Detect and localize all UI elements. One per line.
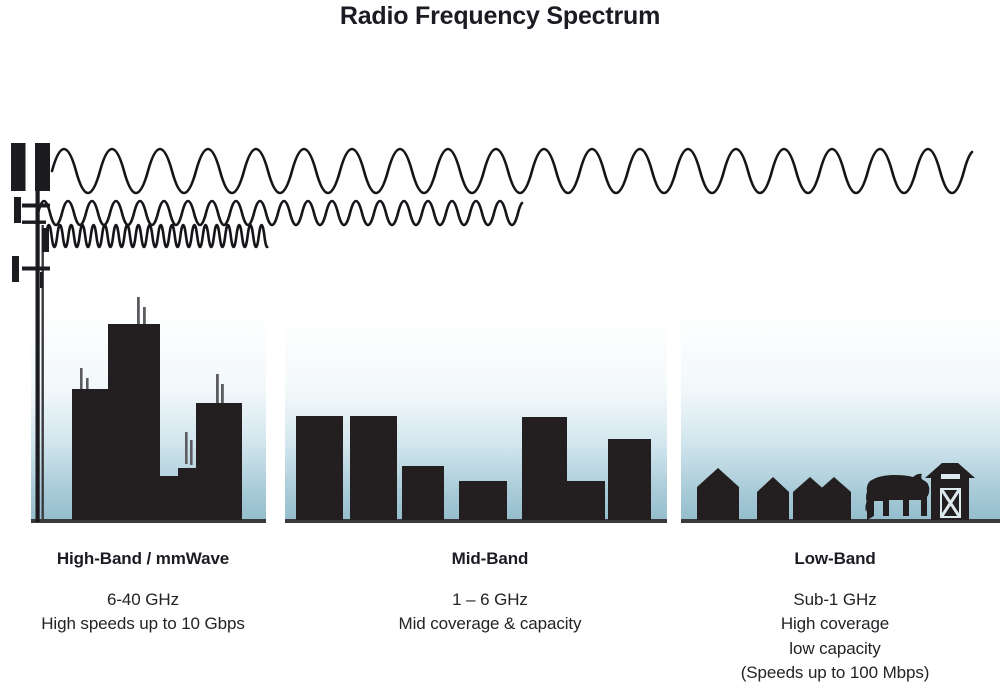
rooftop-antenna xyxy=(216,374,219,404)
building xyxy=(459,481,507,520)
antenna-box-middle xyxy=(42,228,49,252)
high-frequency-wave xyxy=(46,225,267,247)
tower-mast-foot xyxy=(40,272,43,288)
building xyxy=(567,481,605,520)
tower-crossarm-upper xyxy=(22,204,50,208)
band-line: (Speeds up to 100 Mbps) xyxy=(690,662,980,685)
radio-waves xyxy=(38,149,972,247)
building xyxy=(608,439,651,520)
antenna-panel-left xyxy=(11,143,26,191)
band-line: 6-40 GHz xyxy=(0,589,286,612)
band-caption-high: High-Band / mmWave 6-40 GHz High speeds … xyxy=(0,548,286,638)
tower-crossarm-lower xyxy=(22,267,50,271)
skyscraper xyxy=(108,324,160,520)
band-title-low: Low-Band xyxy=(690,548,980,571)
band-caption-mid: Mid-Band 1 – 6 GHz Mid coverage & capaci… xyxy=(340,548,640,638)
building xyxy=(402,466,444,520)
mid-frequency-wave xyxy=(38,201,522,225)
page-title: Radio Frequency Spectrum xyxy=(0,2,1000,31)
building xyxy=(296,416,343,520)
band-lines-high: 6-40 GHz High speeds up to 10 Gbps xyxy=(0,589,286,636)
band-title-high: High-Band / mmWave xyxy=(0,548,286,571)
antenna-box-upper xyxy=(14,197,21,223)
antenna-panel-right xyxy=(35,143,50,191)
band-lines-mid: 1 – 6 GHz Mid coverage & capacity xyxy=(340,589,640,636)
band-line: Sub-1 GHz xyxy=(690,589,980,612)
rooftop-antenna xyxy=(221,384,224,406)
low-frequency-wave xyxy=(52,149,972,193)
band-caption-low: Low-Band Sub-1 GHz High coverage low cap… xyxy=(690,548,980,687)
band-lines-low: Sub-1 GHz High coverage low capacity (Sp… xyxy=(690,589,980,685)
skyscraper xyxy=(72,389,108,520)
rooftop-antenna xyxy=(137,297,140,327)
rooftop-antenna xyxy=(185,432,188,464)
barn-window xyxy=(941,474,960,479)
band-line: Mid coverage & capacity xyxy=(340,613,640,636)
band-line: High speeds up to 10 Gbps xyxy=(0,613,286,636)
rooftop-antenna xyxy=(190,440,193,465)
band-title-mid: Mid-Band xyxy=(340,548,640,571)
antenna-box-lower xyxy=(12,256,19,282)
building xyxy=(522,417,567,520)
band-line: 1 – 6 GHz xyxy=(340,589,640,612)
band-line: low capacity xyxy=(690,638,980,661)
band-line: High coverage xyxy=(690,613,980,636)
skyscraper xyxy=(196,403,242,520)
barn xyxy=(925,463,975,520)
building xyxy=(350,416,397,520)
tower-crossarm-middle xyxy=(22,221,46,224)
skyscraper xyxy=(160,476,178,520)
